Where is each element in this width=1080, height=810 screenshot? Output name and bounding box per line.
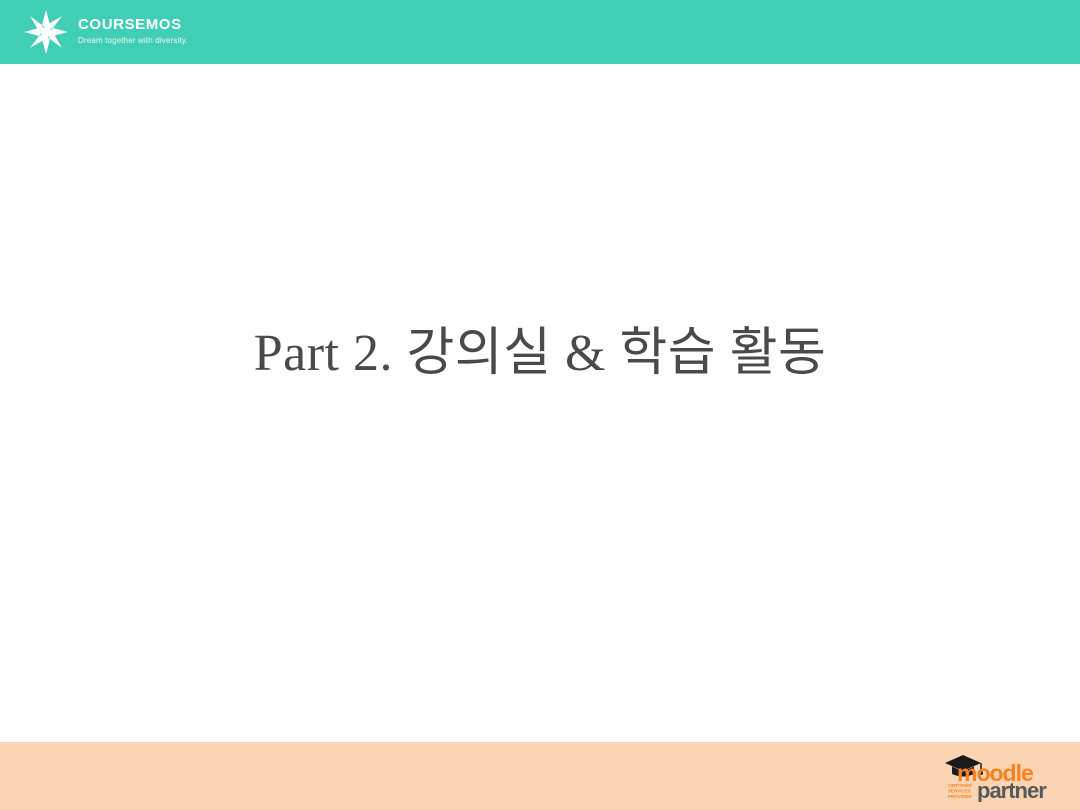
brand-name: COURSEMOS (78, 17, 188, 33)
presentation-slide: COURSEMOS Dream together with diversity.… (0, 0, 1080, 810)
partner-wordmark: partner (977, 778, 1047, 802)
slide-body: Part 2. 강의실 & 학습 활동 (0, 64, 1080, 742)
moodle-partner-logo: moodle partner CERTIFIED SERVICES PROVID… (940, 746, 1060, 802)
svg-text:SERVICES: SERVICES (948, 789, 971, 794)
brand-text-block: COURSEMOS Dream together with diversity. (78, 17, 188, 47)
slide-footer: moodle partner CERTIFIED SERVICES PROVID… (0, 742, 1080, 810)
slide-header: COURSEMOS Dream together with diversity. (0, 0, 1080, 64)
certification-text: CERTIFIED SERVICES PROVIDER (948, 783, 973, 799)
coursemos-brand: COURSEMOS Dream together with diversity. (22, 9, 188, 55)
page-title: Part 2. 강의실 & 학습 활동 (0, 322, 1080, 386)
brand-tagline: Dream together with diversity. (78, 35, 188, 47)
moodle-partner-svg: moodle partner CERTIFIED SERVICES PROVID… (940, 746, 1060, 802)
svg-text:PROVIDER: PROVIDER (948, 794, 972, 799)
svg-text:CERTIFIED: CERTIFIED (948, 783, 973, 788)
starburst-icon (22, 9, 70, 55)
